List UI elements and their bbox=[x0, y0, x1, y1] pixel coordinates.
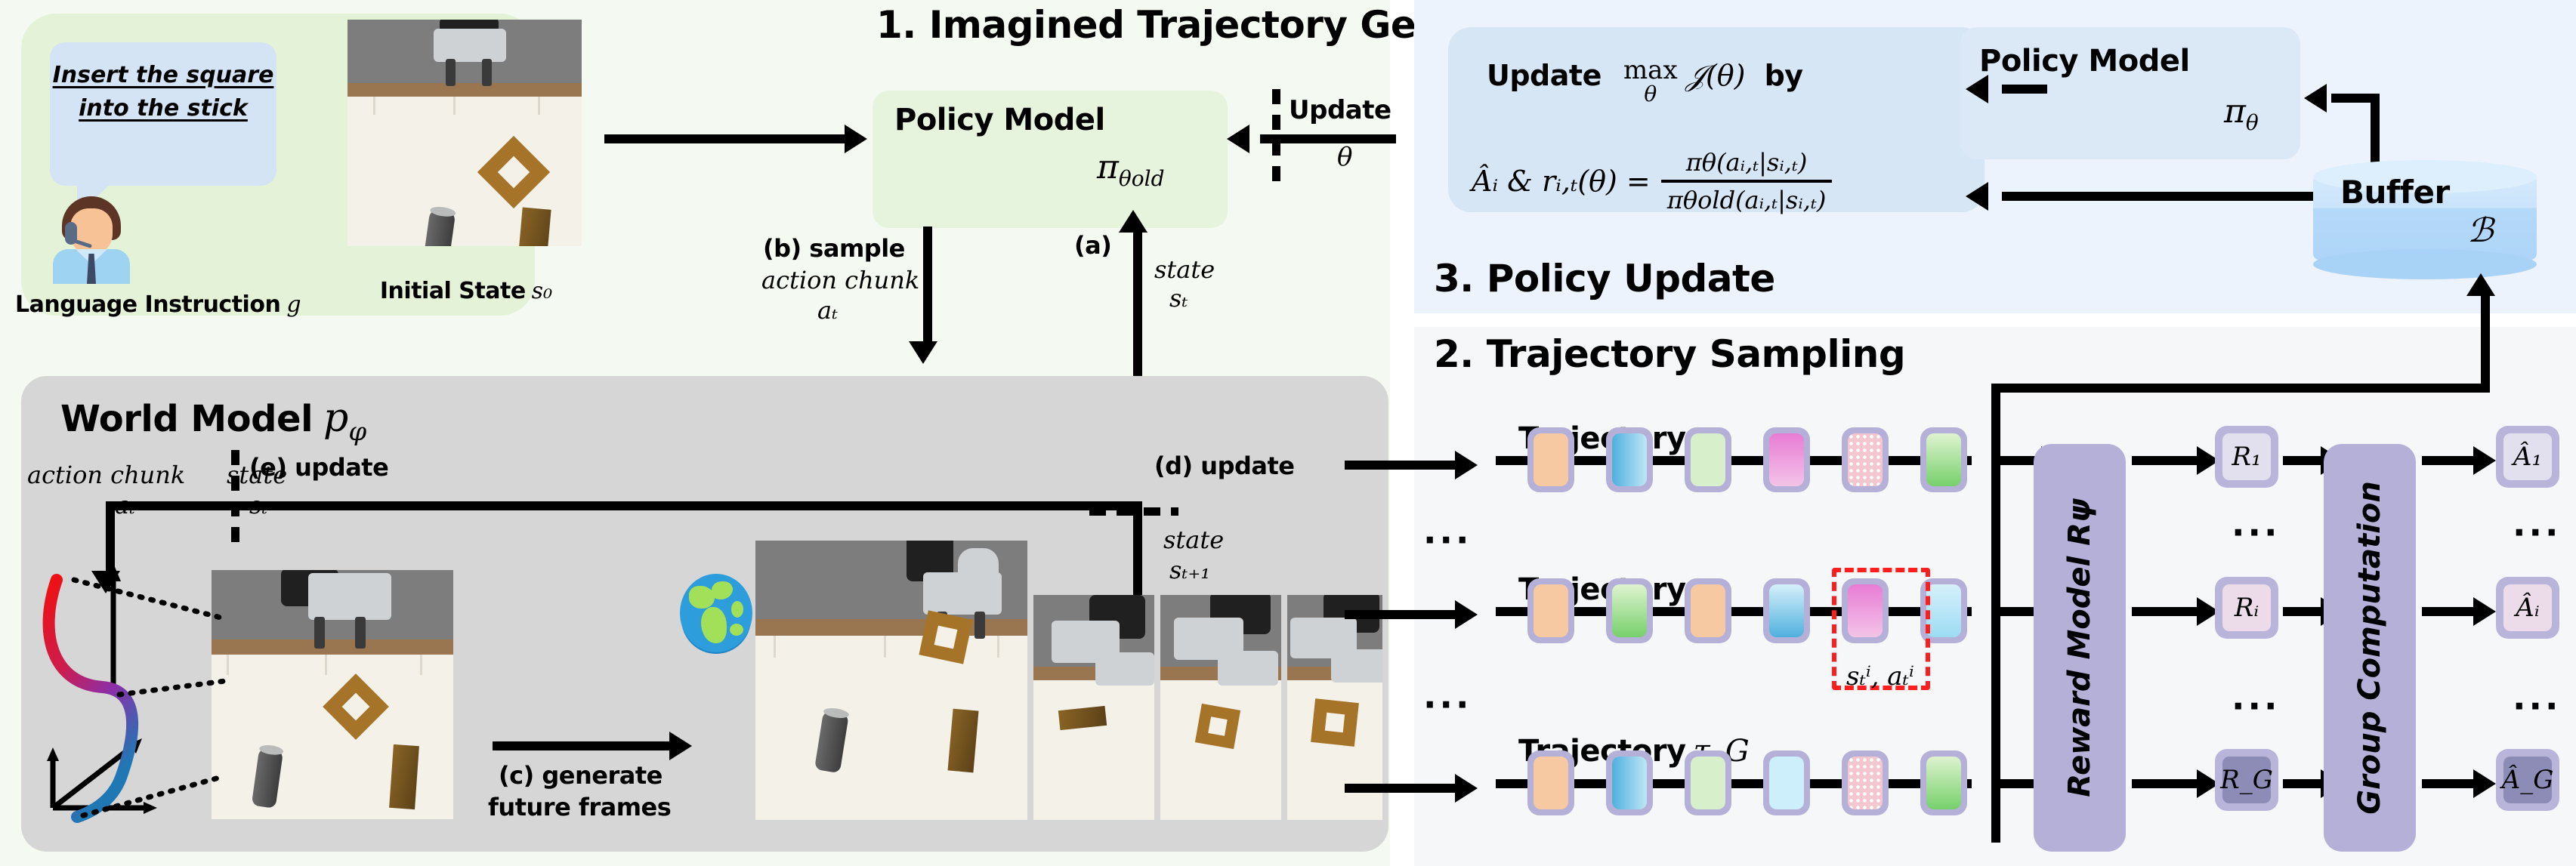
update-theta-symbol: θ bbox=[1337, 142, 1352, 172]
trajectory-i-tile-3[interactable] bbox=[1685, 578, 1731, 643]
arrow-buffer-to-policy-h bbox=[2331, 94, 2375, 103]
reward-output-1: R₁ bbox=[2215, 426, 2278, 488]
arrow-head-icon bbox=[909, 341, 937, 364]
arrow-in-traj-1 bbox=[1345, 461, 1458, 470]
arrow-head-icon bbox=[2466, 273, 2495, 296]
ellipsis-left-2: ··· bbox=[1423, 687, 1472, 722]
state-next-symbol: sₜ₊₁ bbox=[1169, 556, 1210, 584]
arrow-instruction-to-policy bbox=[604, 134, 845, 143]
trajectory-1-tile-2[interactable] bbox=[1606, 427, 1653, 492]
reward-output-i: Rᵢ bbox=[2215, 577, 2278, 639]
future-frame-1 bbox=[755, 541, 1027, 820]
ellipsis-reward-2: ··· bbox=[2232, 689, 2280, 723]
trajectory-G-tile-6[interactable] bbox=[1920, 750, 1967, 815]
trajectory-G-tile-5[interactable] bbox=[1842, 750, 1889, 815]
bus-to-buffer-v bbox=[2481, 291, 2490, 388]
ellipsis-left-1: ··· bbox=[1423, 522, 1472, 557]
language-instruction-caption: Language Instructiong bbox=[15, 291, 340, 318]
arrow-update-theta bbox=[1260, 134, 1396, 143]
trajectory-1-tile-3[interactable] bbox=[1685, 427, 1731, 492]
policy-update-formula-top: Update max θ 𝒥(θ) by bbox=[1487, 57, 1803, 106]
highlight-label: sₜⁱ, aₜⁱ bbox=[1846, 661, 1914, 692]
arrow-sample-down bbox=[923, 227, 932, 347]
arrow-in-traj-i bbox=[1345, 610, 1458, 619]
user-avatar-icon bbox=[50, 195, 133, 284]
advantage-output-i: Âᵢ bbox=[2496, 577, 2559, 639]
initial-state-symbol: s₀ bbox=[526, 278, 552, 304]
trajectory-G-tile-1[interactable] bbox=[1527, 750, 1574, 815]
future-frame-2 bbox=[1033, 595, 1154, 820]
instruction-line-2: into the stick bbox=[50, 92, 276, 125]
reward-output-G: R_G bbox=[2215, 749, 2278, 811]
arrow-head-icon bbox=[2473, 597, 2496, 626]
trajectory-G-tile-4[interactable] bbox=[1763, 750, 1810, 815]
arrow-reward-out-G bbox=[2132, 779, 2203, 788]
section-3-title: 3. Policy Update bbox=[1434, 257, 1775, 300]
arrow-head-icon bbox=[1966, 182, 1988, 211]
trajectory-G-tile-3[interactable] bbox=[1685, 750, 1731, 815]
arrow-head-icon bbox=[1455, 600, 1478, 629]
arrow-head-icon bbox=[1455, 774, 1478, 803]
initial-state-caption: Initial States₀ bbox=[349, 278, 583, 304]
trajectory-1-tile-6[interactable] bbox=[1920, 427, 1967, 492]
arrow-generate-future bbox=[493, 741, 672, 750]
world-state-symbol: sₜ bbox=[249, 491, 267, 519]
arrow-group-out-G bbox=[2422, 779, 2479, 788]
instruction-line-1: Insert the square bbox=[50, 59, 276, 92]
sample-label: (b) sample bbox=[763, 234, 905, 263]
generate-label-line1: (c) generate bbox=[499, 761, 663, 790]
action-chunk-axis-symbol: aₜ bbox=[115, 491, 135, 519]
trajectory-1-tile-4[interactable] bbox=[1763, 427, 1810, 492]
policy-model-old-symbol: πθold bbox=[1097, 148, 1165, 191]
world-model-globe-icon bbox=[680, 574, 752, 652]
arrow-group-out-1 bbox=[2422, 456, 2479, 465]
action-chunk-symbol: aₜ bbox=[817, 296, 838, 325]
update-label: Update bbox=[1289, 95, 1391, 125]
policy-model-new-symbol: πθ bbox=[2224, 92, 2259, 135]
arrow-head-icon bbox=[2473, 446, 2496, 475]
state-next-label: state bbox=[1163, 525, 1224, 554]
buffer-symbol: ℬ bbox=[2467, 211, 2494, 250]
initial-state-image bbox=[347, 20, 582, 246]
trajectory-1-tile-5[interactable] bbox=[1842, 427, 1889, 492]
instruction-text: Insert the square into the stick bbox=[50, 59, 276, 125]
trajectory-i-tile-4[interactable] bbox=[1763, 578, 1810, 643]
update-d-label: (d) update bbox=[1154, 451, 1294, 480]
arrow-reward-out-1 bbox=[2132, 456, 2203, 465]
arrow-head-icon bbox=[1119, 210, 1147, 233]
arrow-head-icon bbox=[2473, 769, 2496, 798]
future-frame-3 bbox=[1160, 595, 1281, 820]
ellipsis-adv-2: ··· bbox=[2513, 689, 2561, 723]
arrow-head-icon bbox=[845, 125, 867, 153]
policy-update-ratio: Âᵢ & rᵢ,ₜ(θ) = πθ(aᵢ,ₜ|sᵢ,ₜ) πθold(aᵢ,ₜ|… bbox=[1472, 148, 1832, 214]
arrow-policy-to-update bbox=[2002, 85, 2047, 94]
flow-label-a: (a) bbox=[1074, 231, 1111, 260]
arrow-head-icon bbox=[2304, 84, 2327, 112]
state-symbol-a: sₜ bbox=[1169, 284, 1188, 313]
policy-model-old-title: Policy Model bbox=[894, 103, 1105, 137]
generate-label-line2: future frames bbox=[488, 793, 671, 821]
trajectory-1-tile-1[interactable] bbox=[1527, 427, 1574, 492]
trajectory-G-tile-2[interactable] bbox=[1606, 750, 1653, 815]
world-state-label: state bbox=[227, 461, 287, 489]
arrow-buffer-to-update bbox=[2002, 192, 2328, 201]
advantage-output-1: Â₁ bbox=[2496, 426, 2559, 488]
buffer-title: Buffer bbox=[2340, 174, 2450, 211]
arrow-reward-out-i bbox=[2132, 607, 2203, 616]
action-chunk-axis-label: action chunk bbox=[27, 461, 185, 489]
policy-model-new-title: Policy Model bbox=[1979, 44, 2190, 79]
ellipsis-reward-1: ··· bbox=[2232, 515, 2280, 550]
group-computation-label: Group Computation bbox=[2352, 481, 2387, 815]
advantage-output-G: Â_G bbox=[2496, 749, 2559, 811]
arrow-head-icon bbox=[669, 732, 692, 760]
arrow-head-icon bbox=[1966, 75, 1988, 103]
arrow-head-icon bbox=[1455, 451, 1478, 479]
callout-lines bbox=[30, 521, 483, 838]
bus-to-buffer-h bbox=[1991, 384, 2490, 393]
trajectory-i-tile-1[interactable] bbox=[1527, 578, 1574, 643]
speech-bubble: Insert the square into the stick bbox=[50, 42, 276, 186]
reward-model-label: Reward Model Rψ bbox=[2062, 498, 2097, 797]
reward-model-module[interactable]: Reward Model Rψ bbox=[2034, 444, 2126, 852]
instruction-symbol: g bbox=[280, 291, 301, 318]
arrow-in-traj-G bbox=[1345, 784, 1458, 793]
arrow-group-out-i bbox=[2422, 607, 2479, 616]
arrow-head-icon bbox=[1227, 125, 1249, 153]
world-model-title: World Modelpφ bbox=[60, 396, 366, 447]
section-2-title: 2. Trajectory Sampling bbox=[1434, 332, 1905, 376]
ellipsis-adv-1: ··· bbox=[2513, 515, 2561, 550]
group-computation-module[interactable]: Group Computation bbox=[2324, 444, 2416, 852]
state-label-a: state bbox=[1154, 255, 1215, 284]
action-chunk-label: action chunk bbox=[761, 266, 919, 294]
trajectory-i-tile-2[interactable] bbox=[1606, 578, 1653, 643]
